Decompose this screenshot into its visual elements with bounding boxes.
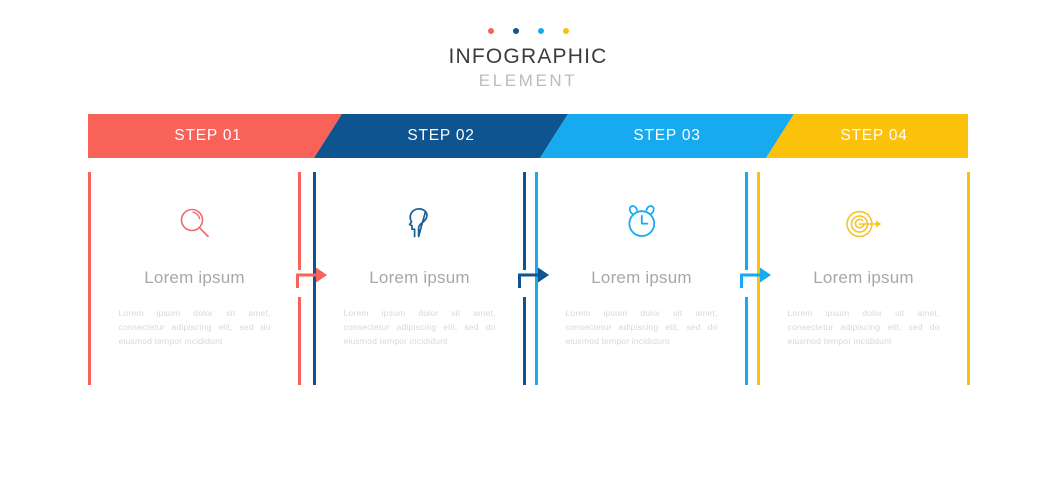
dot-yellow (563, 28, 569, 34)
step-card-1-title: Lorem ipsum (144, 268, 244, 288)
target-arrow-icon (841, 202, 887, 246)
step-card-3-body: Lorem ipsum dolor sit amet, consectetur … (566, 306, 718, 348)
page-title: INFOGRAPHIC (0, 45, 1056, 69)
head-profile-icon (400, 202, 440, 246)
infographic-header: INFOGRAPHIC ELEMENT (0, 28, 1056, 92)
page-subtitle: ELEMENT (0, 70, 1056, 92)
arrow-step1-to-step2 (296, 262, 330, 288)
step-banner-3-label: STEP 03 (633, 127, 700, 145)
step-card-4-title: Lorem ipsum (813, 268, 913, 288)
step-card-3[interactable]: Lorem ipsum Lorem ipsum dolor sit amet, … (535, 172, 748, 385)
step-banner-row: STEP 01 STEP 02 STEP 03 STEP 04 (88, 114, 968, 158)
step-card-4[interactable]: Lorem ipsum Lorem ipsum dolor sit amet, … (757, 172, 970, 385)
alarm-clock-icon (621, 202, 663, 246)
step-card-1[interactable]: Lorem ipsum Lorem ipsum dolor sit amet, … (88, 172, 301, 385)
step-banner-1-label: STEP 01 (174, 127, 241, 145)
step-card-2-title: Lorem ipsum (369, 268, 469, 288)
dot-light-blue (538, 28, 544, 34)
step-banner-3[interactable]: STEP 03 (540, 114, 794, 158)
arrow-step3-to-step4 (740, 262, 774, 288)
step-banner-1[interactable]: STEP 01 (88, 114, 342, 158)
arrow-step2-to-step3 (518, 262, 552, 288)
dot-dark-blue (513, 28, 519, 34)
magnifier-icon (175, 202, 215, 246)
step-banner-2[interactable]: STEP 02 (314, 114, 568, 158)
step-card-2-body: Lorem ipsum dolor sit amet, consectetur … (344, 306, 496, 348)
step-card-2[interactable]: Lorem ipsum Lorem ipsum dolor sit amet, … (313, 172, 526, 385)
header-dot-row (0, 28, 1056, 34)
step-banner-4[interactable]: STEP 04 (766, 114, 996, 158)
step-card-4-body: Lorem ipsum dolor sit amet, consectetur … (788, 306, 940, 348)
dot-red (488, 28, 494, 34)
step-card-1-body: Lorem ipsum dolor sit amet, consectetur … (119, 306, 271, 348)
step-card-3-title: Lorem ipsum (591, 268, 691, 288)
step-banner-2-label: STEP 02 (407, 127, 474, 145)
step-banner-4-label: STEP 04 (840, 127, 907, 145)
